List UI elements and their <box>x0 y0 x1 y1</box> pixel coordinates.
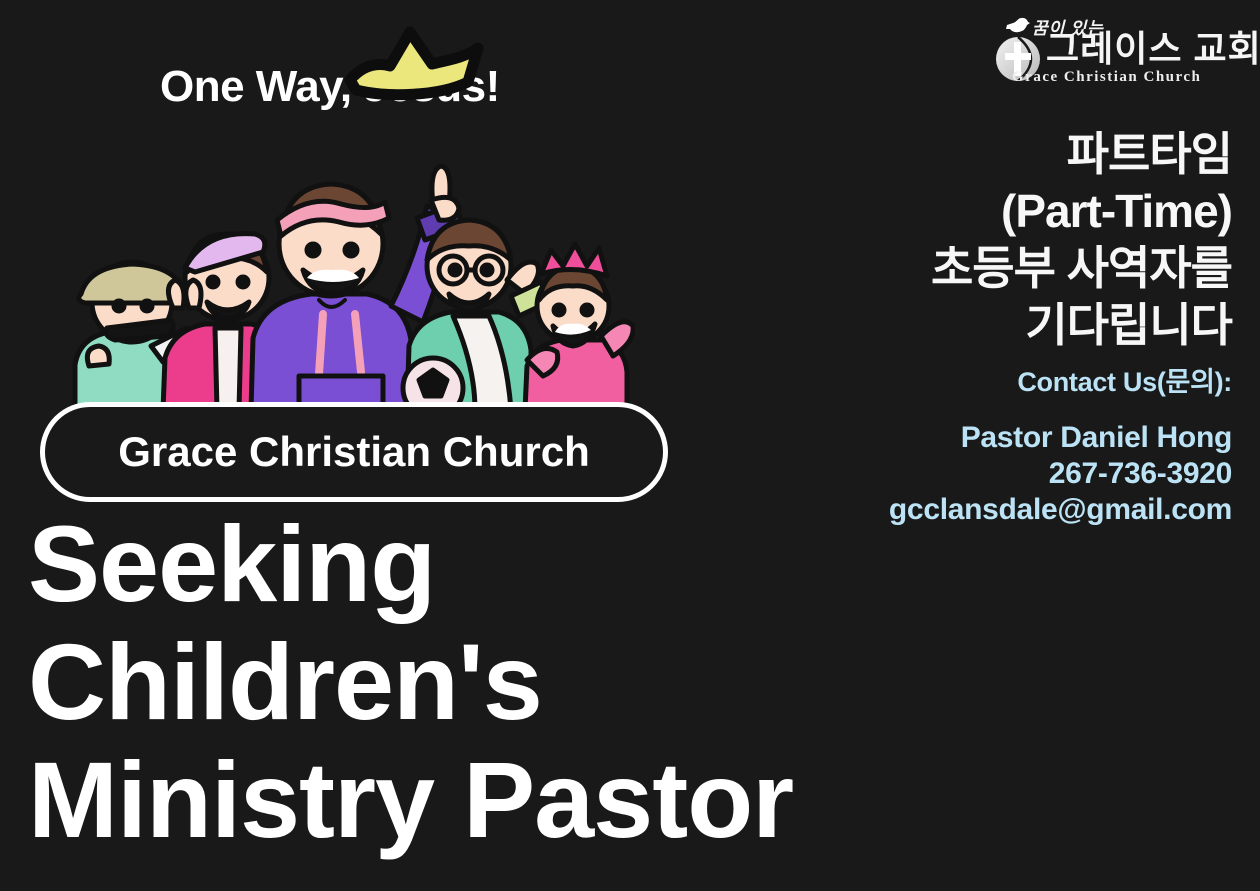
korean-headline-line-3: 초등부 사역자를 <box>812 240 1232 297</box>
poster-canvas: One Way, Jesus! <box>0 0 1260 891</box>
page-title: Seeking Children's Ministry Pastor <box>28 505 888 859</box>
girl-pink-crown <box>525 244 633 410</box>
headline-line-2: Children's <box>28 623 888 741</box>
contact-person: Pastor Daniel Hong <box>792 420 1232 456</box>
crown-icon <box>344 18 484 104</box>
five-children-illustration <box>55 160 635 420</box>
korean-headline-line-2: (Part-Time) <box>812 183 1232 240</box>
contact-title: Contact Us(문의): <box>812 360 1232 399</box>
contact-details: Pastor Daniel Hong 267-736-3920 gcclansd… <box>792 420 1232 528</box>
church-name-label: Grace Christian Church <box>118 428 589 476</box>
contact-phone[interactable]: 267-736-3920 <box>792 456 1232 492</box>
korean-headline-line-1: 파트타임 <box>812 126 1232 183</box>
korean-headline: 파트타임 (Part-Time) 초등부 사역자를 기다립니다 <box>812 126 1232 354</box>
korean-headline-line-4: 기다립니다 <box>812 297 1232 354</box>
headline-line-1: Seeking <box>28 505 888 623</box>
church-logo <box>960 14 1250 92</box>
headline-line-3: Ministry Pastor <box>28 741 888 859</box>
contact-email[interactable]: gcclansdale@gmail.com <box>792 492 1232 528</box>
church-name-badge: Grace Christian Church <box>40 402 668 502</box>
